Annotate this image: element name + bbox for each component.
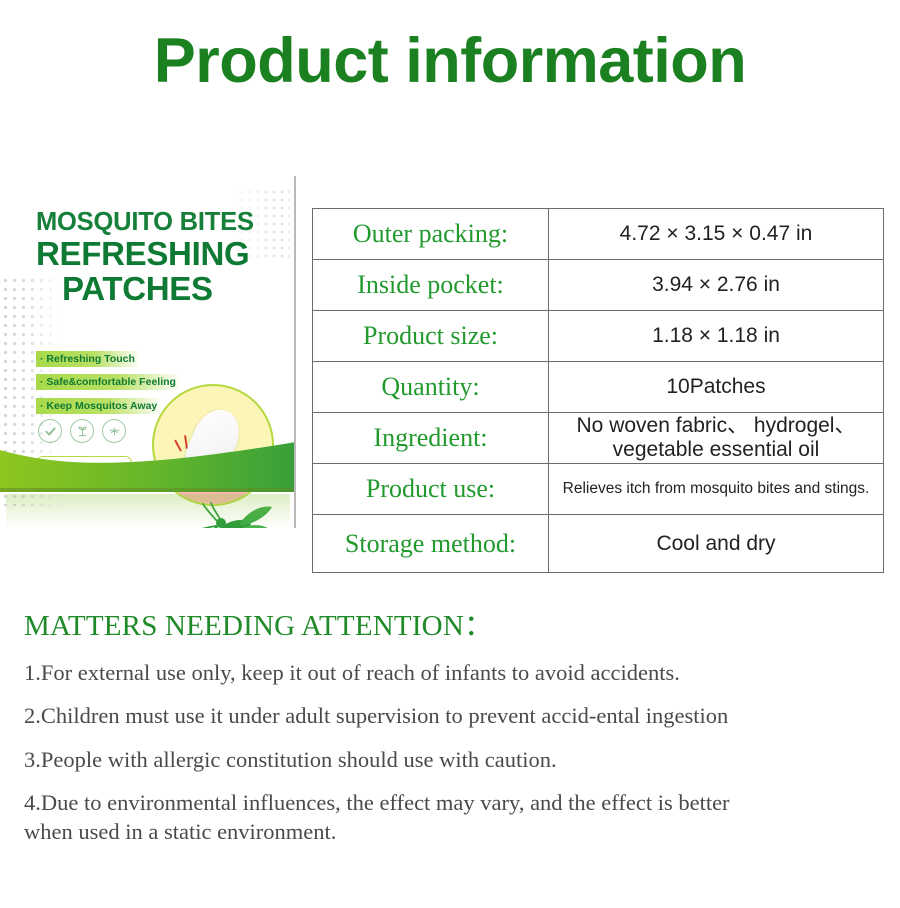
spec-value: 1.18 × 1.18 in — [549, 311, 884, 362]
attention-section: MATTERS NEEDING ATTENTION： 1.For externa… — [24, 602, 884, 860]
box-feature-bullet-1: · Refreshing Touch — [36, 351, 141, 367]
table-row: Outer packing: 4.72 × 3.15 × 0.47 in — [313, 209, 884, 260]
spec-label: Storage method: — [313, 515, 549, 573]
box-title-line3: PATCHES — [62, 270, 213, 308]
table-row: Product use: Relieves itch from mosquito… — [313, 464, 884, 515]
attention-note: 2.Children must use it under adult super… — [24, 701, 884, 730]
table-row: Inside pocket: 3.94 × 2.76 in — [313, 260, 884, 311]
spec-value: Relieves itch from mosquito bites and st… — [549, 464, 884, 515]
box-title-line2: REFRESHING — [36, 235, 249, 273]
spec-table-body: Outer packing: 4.72 × 3.15 × 0.47 in Ins… — [313, 209, 884, 573]
spec-label: Ingredient: — [313, 413, 549, 464]
box-feature-bullet-3: · Keep Mosquitos Away — [36, 398, 163, 414]
attention-note: 1.For external use only, keep it out of … — [24, 658, 884, 687]
spec-value: No woven fabric、 hydrogel、 vegetable ess… — [549, 413, 884, 464]
spec-value: 3.94 × 2.76 in — [549, 260, 884, 311]
spec-value: Cool and dry — [549, 515, 884, 573]
spec-label: Product size: — [313, 311, 549, 362]
product-spec-table: Outer packing: 4.72 × 3.15 × 0.47 in Ins… — [312, 208, 884, 573]
box-title-line1: MOSQUITO BITES — [36, 208, 254, 237]
spec-label: Outer packing: — [313, 209, 549, 260]
product-information-page: Product information MOSQUITO BITES REFRE… — [0, 0, 900, 908]
box-feature-bullet-2: · Safe&comfortable Feeling — [36, 374, 182, 390]
attention-title: MATTERS NEEDING ATTENTION： — [24, 602, 884, 644]
spec-value: 10Patches — [549, 362, 884, 413]
box-bottom-wave-decoration — [0, 436, 296, 492]
table-row: Product size: 1.18 × 1.18 in — [313, 311, 884, 362]
table-row: Quantity: 10Patches — [313, 362, 884, 413]
table-row: Storage method: Cool and dry — [313, 515, 884, 573]
spec-label: Inside pocket: — [313, 260, 549, 311]
attention-note: 3.People with allergic constitution shou… — [24, 745, 884, 774]
product-package-image: MOSQUITO BITES REFRESHING PATCHES · Refr… — [0, 176, 296, 528]
table-row: Ingredient: No woven fabric、 hydrogel、 v… — [313, 413, 884, 464]
spec-value: 4.72 × 3.15 × 0.47 in — [549, 209, 884, 260]
box-right-edge — [294, 176, 296, 528]
spec-label: Quantity: — [313, 362, 549, 413]
box-reflection — [6, 494, 290, 528]
spec-label: Product use: — [313, 464, 549, 515]
attention-note: 4.Due to environmental influences, the e… — [24, 788, 884, 847]
page-title: Product information — [0, 28, 900, 94]
